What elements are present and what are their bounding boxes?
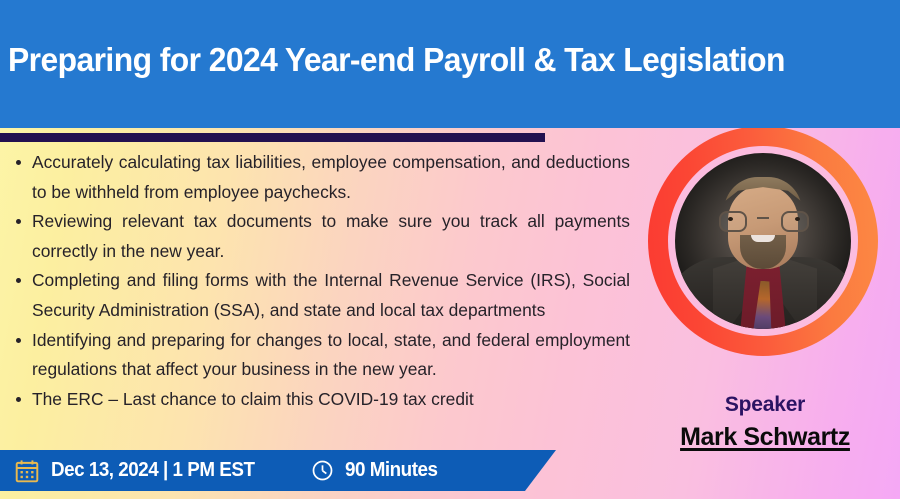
webinar-poster: Preparing for 2024 Year-end Payroll & Ta… [0, 0, 900, 499]
speaker-name: Mark Schwartz [640, 421, 890, 453]
list-item: Accurately calculating tax liabilities, … [8, 148, 630, 207]
accent-rule [0, 133, 545, 142]
schedule-banner-content: Dec 13, 2024 | 1 PM EST 90 Minutes [14, 450, 444, 491]
page-title: Preparing for 2024 Year-end Payroll & Ta… [8, 40, 863, 80]
topics-list: Accurately calculating tax liabilities, … [8, 148, 630, 414]
list-item: Reviewing relevant tax documents to make… [8, 207, 630, 266]
list-item-text: Reviewing relevant tax documents to make… [32, 207, 630, 266]
list-item: Completing and filing forms with the Int… [8, 266, 630, 325]
banner-date-text: Dec 13, 2024 | 1 PM EST [51, 459, 254, 482]
list-item-text: Completing and filing forms with the Int… [32, 266, 630, 325]
list-item: The ERC – Last chance to claim this COVI… [8, 385, 630, 415]
list-item-text: Identifying and preparing for changes to… [32, 326, 630, 385]
calendar-icon [14, 458, 40, 484]
header-bar: Preparing for 2024 Year-end Payroll & Ta… [0, 0, 900, 128]
speaker-photo [648, 126, 878, 356]
list-item-text: Accurately calculating tax liabilities, … [32, 148, 630, 207]
speaker-label: Speaker [640, 392, 890, 418]
speaker-block: Speaker Mark Schwartz [640, 392, 890, 453]
speaker-portrait-image [675, 153, 851, 329]
clock-icon [311, 459, 334, 482]
list-item-text: The ERC – Last chance to claim this COVI… [32, 385, 630, 415]
banner-duration-text: 90 Minutes [345, 459, 437, 482]
list-item: Identifying and preparing for changes to… [8, 326, 630, 385]
